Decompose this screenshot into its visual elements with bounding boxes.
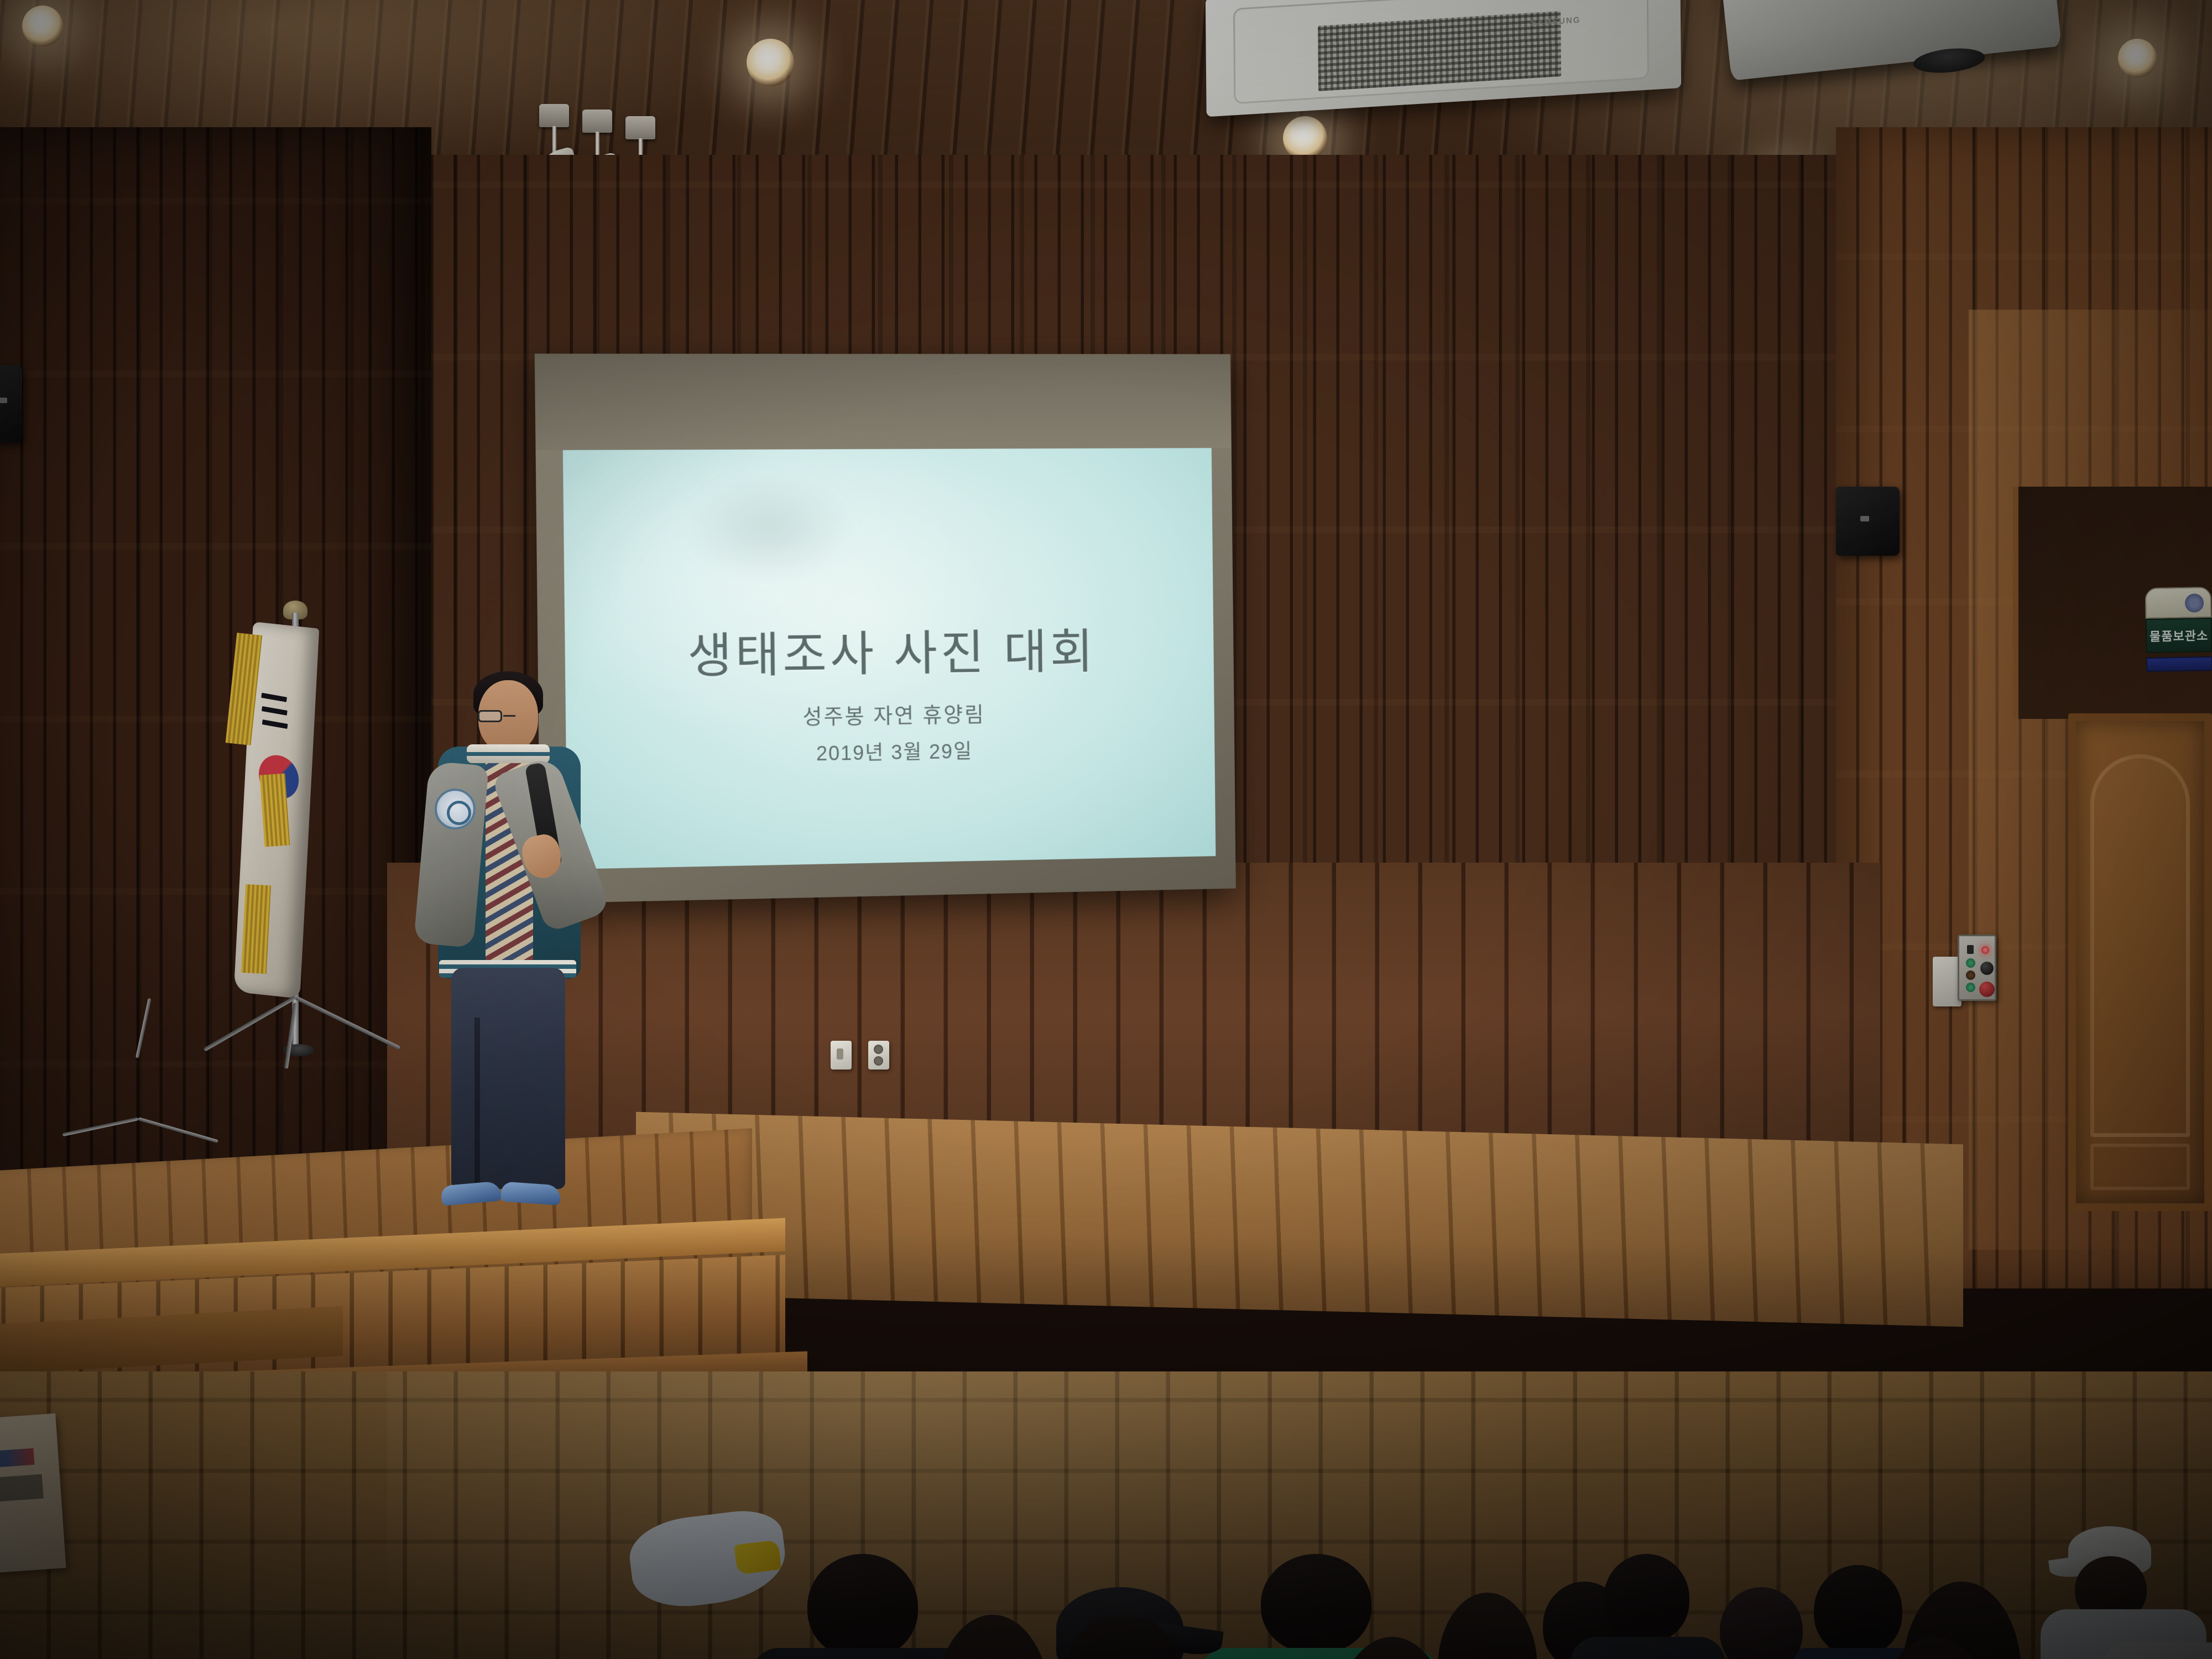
trigram-bar: [262, 719, 288, 729]
audience-torso: [1571, 1637, 1725, 1659]
sign-header-plate: [2145, 587, 2212, 619]
ceiling-downlight: [2118, 39, 2157, 77]
flag-stand-leg: [294, 995, 400, 1050]
trigram-bar: [261, 693, 287, 702]
slide-subtitle: 성주봉 자연 휴양림: [566, 694, 1214, 734]
ceiling-downlight: [747, 39, 794, 86]
audience-torso: [752, 1648, 973, 1659]
ceiling-downlight: [22, 6, 63, 46]
spotlight-rod: [552, 126, 556, 154]
slide-surface: 생태조사 사진 대회 성주봉 자연 휴양림 2019년 3월 29일: [563, 448, 1216, 869]
light-switch-plate[interactable]: [831, 1041, 852, 1070]
government-emblem-icon: [2185, 593, 2204, 613]
panel-knob-black[interactable]: [1980, 962, 1994, 975]
audience-torso: [2101, 1642, 2212, 1659]
ceiling-downlight: [1283, 116, 1327, 160]
outlet-socket-icon: [874, 1045, 883, 1054]
audience-hair: [935, 1615, 1051, 1659]
trigram-bar: [262, 706, 288, 716]
auditorium-scene: SAMSUNG: [0, 0, 2212, 1659]
glasses-icon: [478, 710, 540, 722]
audience-head: [807, 1554, 918, 1659]
presenter-collar: [467, 744, 550, 763]
jacket-emblem-icon: [435, 789, 476, 830]
slide-date: 2019년 3월 29일: [566, 732, 1214, 770]
power-outlet-plate[interactable]: [868, 1041, 889, 1070]
slide-title: 생태조사 사진 대회: [565, 612, 1214, 688]
door-arch-panel: [2090, 754, 2190, 1137]
sign-label: 물품보관소: [2146, 618, 2212, 653]
ac-inner-frame: SAMSUNG: [1233, 0, 1649, 104]
storage-room-sign: 물품보관소: [2145, 587, 2212, 676]
spotlight-base: [582, 109, 612, 133]
switch-toggle-icon[interactable]: [837, 1048, 843, 1060]
audience-head: [1814, 1565, 1902, 1656]
sign-accent-bar: [2146, 656, 2212, 672]
panel-knob-red[interactable]: [1979, 982, 1995, 997]
flag-fringe: [260, 774, 290, 847]
slide-text-block: 생태조사 사진 대회 성주봉 자연 휴양림 2019년 3월 29일: [565, 612, 1215, 770]
glasses-bridge: [503, 715, 515, 717]
projection-screen: 생태조사 사진 대회 성주봉 자연 휴양림 2019년 3월 29일: [535, 354, 1236, 904]
spotlight-base: [539, 104, 569, 127]
screen-shadow: [682, 474, 854, 583]
audience-head: [1720, 1587, 1803, 1659]
panel-button-down[interactable]: [1966, 983, 1975, 992]
wall-speaker-icon: [0, 365, 22, 442]
spotlight-base: [625, 116, 655, 139]
audience-hair: [1438, 1593, 1537, 1659]
ac-grille-icon: [1318, 11, 1561, 91]
panel-button-stop[interactable]: [1966, 971, 1975, 980]
outlet-socket-icon: [874, 1056, 883, 1066]
korean-flag-stand: [221, 608, 420, 1161]
panel-indicator-light: [1981, 946, 1989, 954]
screen-control-panel[interactable]: [1958, 935, 1996, 1001]
cloth-logo-icon: [734, 1540, 781, 1574]
audience-head: [1604, 1554, 1689, 1642]
audience-group: LIFE OF: [0, 1095, 2212, 1659]
wall-speaker-icon: [1836, 487, 1900, 556]
flag-fringe: [241, 884, 271, 974]
audience-head: [1261, 1554, 1371, 1653]
panel-button-up[interactable]: [1966, 958, 1975, 968]
screen-housing: [535, 354, 1232, 451]
panel-switch-icon[interactable]: [1967, 945, 1974, 954]
